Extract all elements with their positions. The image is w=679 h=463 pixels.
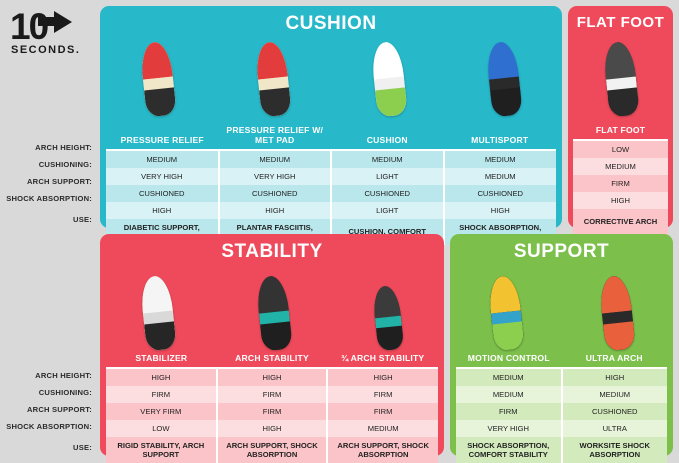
- insole-cushion: [374, 42, 404, 116]
- support-spec-table: MOTION CONTROL ULTRA ARCH MEDIUM HIGH ME…: [456, 350, 667, 463]
- table-row: LOW HIGH MEDIUM: [106, 420, 438, 437]
- table-row: SHOCK ABSORPTION, COMFORT STABILITY WORK…: [456, 437, 667, 463]
- table-row: MEDIUM MEDIUM MEDIUM MEDIUM: [106, 150, 556, 168]
- row-labels-top: ARCH HEIGHT: CUSHIONING: ARCH SUPPORT: S…: [0, 139, 96, 233]
- cell: MEDIUM: [573, 158, 668, 175]
- row-label-cushioning-2: CUSHIONING:: [0, 384, 96, 401]
- col-header-multisport: MULTISPORT: [444, 122, 557, 150]
- cell: MEDIUM: [444, 150, 557, 168]
- cell: VERY HIGH: [106, 168, 219, 185]
- row-label-arch-support: ARCH SUPPORT:: [0, 173, 96, 190]
- cell: MEDIUM: [106, 150, 219, 168]
- col-header-stabilizer: STABILIZER: [106, 350, 217, 368]
- table-row: HIGH: [573, 192, 668, 209]
- table-row: MEDIUM HIGH: [456, 368, 667, 386]
- table-row: CORRECTIVE ARCH: [573, 209, 668, 235]
- cell: HIGH: [106, 368, 217, 386]
- cushion-insole-images: [100, 36, 562, 116]
- col-header-motion-control: MOTION CONTROL: [456, 350, 562, 368]
- cell: MEDIUM: [456, 368, 562, 386]
- cell: ULTRA: [562, 420, 668, 437]
- insole-flat-foot: [606, 42, 636, 116]
- row-label-arch-support-2: ARCH SUPPORT:: [0, 401, 96, 418]
- table-row: HIGH HIGH LIGHT HIGH: [106, 202, 556, 219]
- insole-comparison-chart: 10 SECONDS. CUSHION: [0, 0, 679, 462]
- panel-support: SUPPORT MOTION CONTROL U: [450, 234, 673, 456]
- cell: FIRM: [573, 175, 668, 192]
- flat-foot-insole-images: [568, 36, 673, 116]
- table-row: HIGH HIGH HIGH: [106, 368, 438, 386]
- cell: VERY FIRM: [106, 403, 217, 420]
- stability-insole-images: [100, 264, 444, 350]
- flat-foot-spec-table: FLAT FOOT LOW MEDIUM FIRM HIGH CORRECTIV…: [573, 122, 668, 235]
- cell: CUSHIONED: [219, 185, 332, 202]
- panel-cushion-title: CUSHION: [100, 6, 562, 35]
- cell: MEDIUM: [456, 386, 562, 403]
- row-labels-bottom: ARCH HEIGHT: CUSHIONING: ARCH SUPPORT: S…: [0, 367, 96, 461]
- insole-motion-control: [491, 276, 521, 350]
- cell: CORRECTIVE ARCH: [573, 209, 668, 235]
- table-row: FIRM CUSHIONED: [456, 403, 667, 420]
- support-insole-images: [450, 264, 673, 350]
- stability-spec-table: STABILIZER ARCH STABILITY ¾ ARCH STABILI…: [106, 350, 438, 463]
- cell: VERY HIGH: [456, 420, 562, 437]
- cell: ARCH SUPPORT, SHOCK ABSORPTION: [217, 437, 328, 463]
- cell: CUSHIONED: [331, 185, 444, 202]
- cell: MEDIUM: [219, 150, 332, 168]
- col-header-cushion: CUSHION: [331, 122, 444, 150]
- row-label-arch-height: ARCH HEIGHT:: [0, 139, 96, 156]
- table-row: CUSHIONED CUSHIONED CUSHIONED CUSHIONED: [106, 185, 556, 202]
- row-label-use-2: USE:: [0, 435, 96, 461]
- cell: HIGH: [562, 368, 668, 386]
- cell: MEDIUM: [327, 420, 438, 437]
- brand-logo: 10 SECONDS.: [8, 10, 94, 72]
- cell: FIRM: [327, 386, 438, 403]
- cell: HIGH: [573, 192, 668, 209]
- cushion-spec-table: PRESSURE RELIEF PRESSURE RELIEF W/ MET P…: [106, 122, 556, 245]
- insole-stabilizer: [143, 276, 173, 350]
- row-label-shock-absorption-2: SHOCK ABSORPTION:: [0, 418, 96, 435]
- cell: HIGH: [106, 202, 219, 219]
- logo-arrow-icon: [54, 11, 72, 33]
- insole-ultra-arch: [602, 276, 632, 350]
- panel-stability-title: STABILITY: [100, 234, 444, 263]
- panel-flat-foot: FLAT FOOT FLAT FOOT LOW MEDIUM FIRM HIGH…: [568, 6, 673, 228]
- cell: CUSHIONED: [444, 185, 557, 202]
- row-label-arch-height-2: ARCH HEIGHT:: [0, 367, 96, 384]
- cell: RIGID STABILITY, ARCH SUPPORT: [106, 437, 217, 463]
- table-row: FIRM: [573, 175, 668, 192]
- cell: HIGH: [217, 368, 328, 386]
- table-row: FIRM FIRM FIRM: [106, 386, 438, 403]
- insole-pressure-relief: [143, 42, 173, 116]
- panel-support-title: SUPPORT: [450, 234, 673, 263]
- insole-multisport: [489, 42, 519, 116]
- panel-cushion: CUSHION: [100, 6, 562, 228]
- table-row: RIGID STABILITY, ARCH SUPPORT ARCH SUPPO…: [106, 437, 438, 463]
- cell: FIRM: [327, 403, 438, 420]
- cell: HIGH: [444, 202, 557, 219]
- col-header-arch-stability: ARCH STABILITY: [217, 350, 328, 368]
- col-header-flat-foot: FLAT FOOT: [573, 122, 668, 140]
- table-row: LOW: [573, 140, 668, 158]
- col-header-ultra-arch: ULTRA ARCH: [562, 350, 668, 368]
- panel-stability: STABILITY: [100, 234, 444, 456]
- cell: ARCH SUPPORT, SHOCK ABSORPTION: [327, 437, 438, 463]
- table-row: MEDIUM MEDIUM: [456, 386, 667, 403]
- cell: MEDIUM: [444, 168, 557, 185]
- insole-three-quarter-arch-stability: [375, 286, 401, 350]
- col-header-three-quarter-arch-stability: ¾ ARCH STABILITY: [327, 350, 438, 368]
- logo-seconds: SECONDS.: [8, 44, 94, 56]
- table-row: VERY HIGH VERY HIGH LIGHT MEDIUM: [106, 168, 556, 185]
- logo-ten: 10: [8, 10, 94, 44]
- cell: FIRM: [106, 386, 217, 403]
- cell: LOW: [106, 420, 217, 437]
- cell: WORKSITE SHOCK ABSORPTION: [562, 437, 668, 463]
- cell: HIGH: [217, 420, 328, 437]
- cell: CUSHIONED: [106, 185, 219, 202]
- table-row: VERY FIRM FIRM FIRM: [106, 403, 438, 420]
- cell: LIGHT: [331, 168, 444, 185]
- cell: CUSHIONED: [562, 403, 668, 420]
- insole-arch-stability: [259, 276, 289, 350]
- insole-pressure-relief-met-pad: [258, 42, 288, 116]
- cell: MEDIUM: [331, 150, 444, 168]
- col-header-pressure-relief: PRESSURE RELIEF: [106, 122, 219, 150]
- panel-flat-foot-title: FLAT FOOT: [568, 6, 673, 31]
- cell: LIGHT: [331, 202, 444, 219]
- cell: MEDIUM: [562, 386, 668, 403]
- row-label-shock-absorption: SHOCK ABSORPTION:: [0, 190, 96, 207]
- table-row: VERY HIGH ULTRA: [456, 420, 667, 437]
- cell: SHOCK ABSORPTION, COMFORT STABILITY: [456, 437, 562, 463]
- row-label-cushioning: CUSHIONING:: [0, 156, 96, 173]
- cell: VERY HIGH: [219, 168, 332, 185]
- cell: FIRM: [456, 403, 562, 420]
- cell: FIRM: [217, 386, 328, 403]
- cell: HIGH: [327, 368, 438, 386]
- table-row: MEDIUM: [573, 158, 668, 175]
- cell: LOW: [573, 140, 668, 158]
- col-header-pressure-relief-met-pad: PRESSURE RELIEF W/ MET PAD: [219, 122, 332, 150]
- cell: HIGH: [219, 202, 332, 219]
- cell: FIRM: [217, 403, 328, 420]
- row-label-use: USE:: [0, 207, 96, 233]
